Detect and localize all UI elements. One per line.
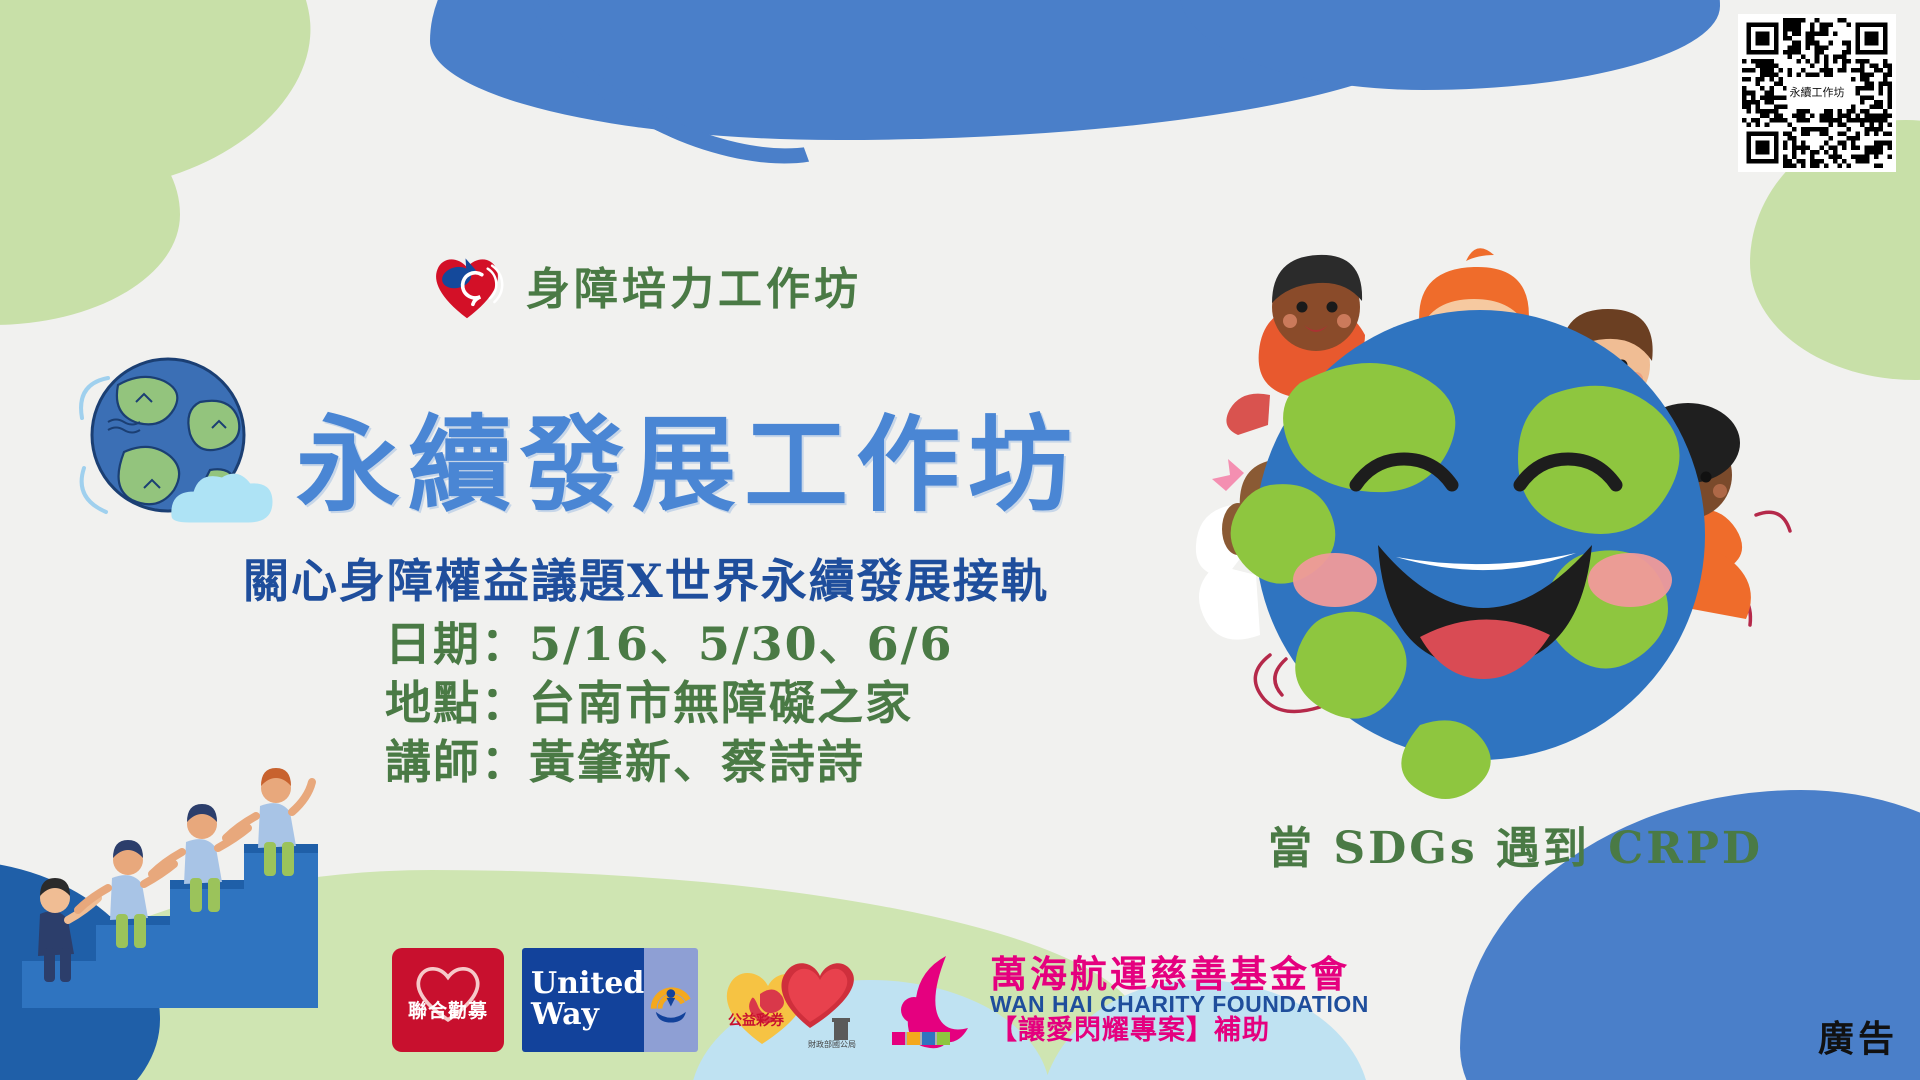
- wan-hai-mother-child-icon: [884, 948, 980, 1052]
- united-way-line1: United: [531, 969, 644, 1000]
- page-subtitle: 關心身障權益議題X世界永續發展接軌: [243, 545, 1049, 611]
- tagline: 當 SDGs 遇到 CRPD: [1268, 812, 1763, 876]
- globe-face: [1231, 310, 1705, 799]
- header-title: 身障培力工作坊: [526, 253, 862, 317]
- sponsor-united-way[interactable]: United Way: [522, 948, 698, 1052]
- ad-mark: 廣告: [1818, 1010, 1898, 1062]
- ministry-label: 財政部國公局: [808, 1039, 856, 1050]
- wan-hai-name-cn: 萬海航運慈善基金會: [990, 955, 1369, 993]
- sponsor-united-way-taiwan-label: 聯合勸募: [408, 996, 488, 1023]
- sponsor-bar: 聯合勸募 United Way: [392, 948, 1369, 1052]
- sponsor-united-way-taiwan[interactable]: 聯合勸募: [392, 948, 504, 1052]
- ministry-of-finance-mark: 財政部國公局: [808, 1039, 856, 1050]
- info-line-lecturers: 講師：黃肇新、蔡詩詩: [385, 733, 953, 792]
- lottery-hearts-icon: [716, 948, 866, 1052]
- info-line-date: 日期：5/16、5/30、6/6: [385, 615, 953, 674]
- page-title: 永續發展工作坊: [296, 380, 1080, 531]
- sponsor-public-welfare-lottery[interactable]: 公益彩券 財政部國公局: [716, 948, 866, 1052]
- event-info-block: 日期：5/16、5/30、6/6 地點：台南市無障礙之家 講師：黃肇新、蔡詩詩: [385, 615, 953, 792]
- heart-ear-logo: [430, 248, 504, 322]
- people-climbing-stairs-illustration: [10, 700, 410, 1020]
- earth-globe-icon: [60, 340, 290, 560]
- lottery-label: 公益彩券: [728, 1010, 784, 1030]
- header-row: 身障培力工作坊: [430, 248, 862, 322]
- qr-code[interactable]: 永續工作坊: [1738, 14, 1896, 172]
- united-way-line2: Way: [531, 1000, 644, 1031]
- qr-code-label: 永續工作坊: [1787, 85, 1848, 101]
- smiling-earth-illustration: [1120, 185, 1840, 825]
- poster-canvas: 永續工作坊: [0, 0, 1920, 1080]
- wan-hai-name-en: WAN HAI CHARITY FOUNDATION: [990, 993, 1369, 1017]
- wan-hai-program: 【讓愛閃耀專案】補助: [990, 1017, 1369, 1045]
- info-line-location: 地點：台南市無障礙之家: [385, 674, 953, 733]
- united-way-rainbow-icon: [644, 948, 698, 1052]
- sponsor-wan-hai-charity-foundation[interactable]: 萬海航運慈善基金會 WAN HAI CHARITY FOUNDATION 【讓愛…: [884, 948, 1369, 1052]
